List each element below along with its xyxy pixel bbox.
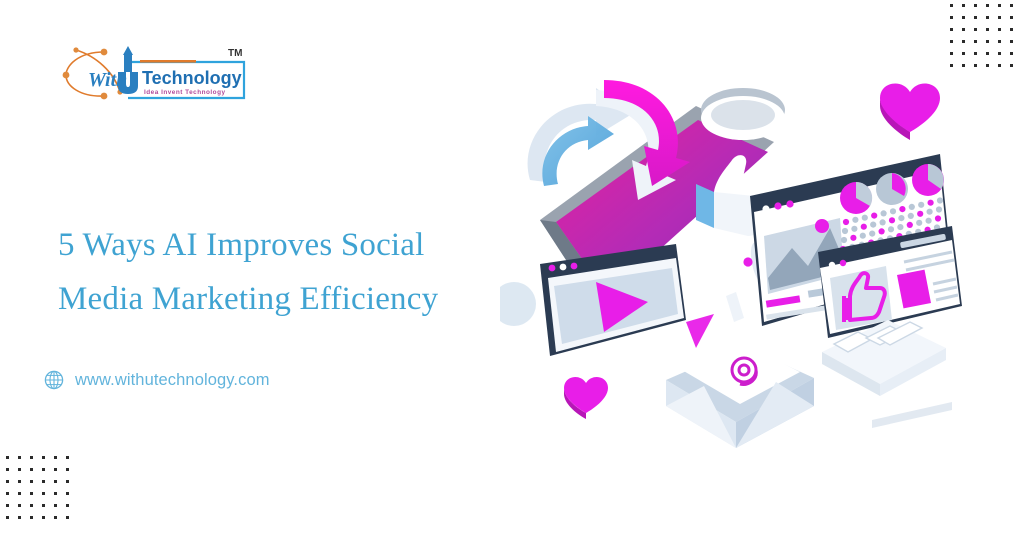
matrix-dot (860, 233, 866, 239)
magnifier-icon (701, 88, 785, 140)
logo-atom-dot (101, 93, 108, 100)
grid-dot (54, 504, 57, 507)
grid-dot (986, 40, 989, 43)
matrix-dot (918, 202, 924, 208)
grid-dot (66, 468, 69, 471)
grid-dot (54, 456, 57, 459)
headline-line-1: 5 Ways AI Improves Social (58, 218, 528, 272)
heart-icon-large (880, 83, 940, 140)
grid-dot (42, 504, 45, 507)
matrix-dot (926, 218, 932, 224)
grid-dot (974, 40, 977, 43)
grid-dot (962, 40, 965, 43)
grid-dot (18, 480, 21, 483)
grid-dot (986, 28, 989, 31)
grid-dot (30, 504, 33, 507)
grid-dot (6, 492, 9, 495)
grid-dot (30, 516, 33, 519)
matrix-dot (870, 222, 876, 228)
matrix-dot (879, 228, 885, 234)
grid-dot (950, 4, 953, 7)
decorative-circle (500, 282, 536, 326)
website-url-text: www.withutechnology.com (75, 371, 270, 390)
matrix-dot (851, 226, 857, 232)
matrix-dot (935, 215, 941, 221)
matrix-dot (890, 208, 896, 214)
grid-dot (54, 516, 57, 519)
matrix-dot (871, 213, 877, 219)
decorative-bar (872, 402, 952, 428)
grid-dot (54, 468, 57, 471)
dot-grid-bottom-left (6, 456, 80, 532)
logo-withu-technology[interactable]: With Technology Idea Invent Technology T… (62, 42, 248, 104)
grid-dot (998, 16, 1001, 19)
grid-dot (18, 456, 21, 459)
matrix-dot (936, 206, 942, 212)
grid-dot (18, 468, 21, 471)
grid-dot (30, 468, 33, 471)
matrix-dot (841, 237, 847, 243)
grid-dot (30, 456, 33, 459)
grid-dot (1010, 28, 1013, 31)
grid-dot (974, 28, 977, 31)
grid-dot (66, 492, 69, 495)
grid-dot (18, 492, 21, 495)
headline-line-2: Media Marketing Efficiency (58, 272, 528, 326)
grid-dot (962, 52, 965, 55)
logo-orange-rule (140, 60, 196, 63)
grid-dot (998, 28, 1001, 31)
grid-dot (66, 516, 69, 519)
grid-dot (1010, 64, 1013, 67)
grid-dot (950, 64, 953, 67)
envelope-icon (666, 344, 814, 448)
video-player-window[interactable] (540, 244, 686, 356)
logo-atom-dot (101, 49, 108, 56)
grid-dot (1010, 16, 1013, 19)
grid-dot (54, 492, 57, 495)
grid-dot (54, 480, 57, 483)
matrix-dot (899, 206, 905, 212)
grid-dot (42, 456, 45, 459)
grid-dot (6, 516, 9, 519)
grid-dot (42, 468, 45, 471)
grid-dot (18, 504, 21, 507)
matrix-dot (907, 222, 913, 228)
grid-dot (18, 516, 21, 519)
grid-dot (66, 480, 69, 483)
matrix-dot (897, 224, 903, 230)
grid-dot (986, 52, 989, 55)
grid-dot (974, 52, 977, 55)
matrix-dot (869, 231, 875, 237)
matrix-dot (843, 219, 849, 225)
grid-dot (42, 480, 45, 483)
logo-atom-dot (73, 47, 78, 52)
matrix-dot (937, 197, 943, 203)
grid-dot (30, 480, 33, 483)
grid-dot (974, 16, 977, 19)
logo-atom-dot (63, 72, 70, 79)
matrix-dot (880, 219, 886, 225)
matrix-dot (850, 235, 856, 241)
logo-word-technology: Technology (142, 68, 242, 88)
window-dot-max (571, 263, 578, 270)
heart-icon-small (564, 377, 608, 419)
website-url-row[interactable]: www.withutechnology.com (44, 370, 270, 390)
grid-dot (950, 40, 953, 43)
grid-dot (962, 28, 965, 31)
social-media-marketing-illustration (500, 70, 970, 460)
grid-dot (998, 4, 1001, 7)
grid-dot (6, 480, 9, 483)
grid-dot (1010, 4, 1013, 7)
grid-dot (950, 52, 953, 55)
matrix-dot (928, 200, 934, 206)
grid-dot (974, 64, 977, 67)
page-title: 5 Ways AI Improves Social Media Marketin… (58, 218, 528, 326)
matrix-dot (852, 217, 858, 223)
grid-dot (950, 28, 953, 31)
grid-dot (6, 504, 9, 507)
grid-dot (962, 16, 965, 19)
matrix-dot (881, 210, 887, 216)
grid-dot (42, 492, 45, 495)
grid-dot (974, 4, 977, 7)
grid-dot (998, 40, 1001, 43)
matrix-dot (842, 228, 848, 234)
window-dot-close (549, 265, 556, 272)
matrix-dot (908, 213, 914, 219)
grid-dot (1010, 52, 1013, 55)
grid-dot (6, 456, 9, 459)
play-accent-icon (686, 314, 714, 348)
grid-dot (1010, 40, 1013, 43)
window-dot-min (560, 264, 567, 271)
grid-dot (998, 52, 1001, 55)
grid-dot (962, 4, 965, 7)
matrix-dot (898, 215, 904, 221)
matrix-dot (888, 226, 894, 232)
matrix-dot (917, 211, 923, 217)
grid-dot (950, 16, 953, 19)
grid-dot (30, 492, 33, 495)
globe-icon (44, 370, 64, 390)
blog-banner: With Technology Idea Invent Technology T… (0, 0, 1024, 538)
grid-dot (986, 16, 989, 19)
grid-dot (6, 468, 9, 471)
grid-dot (998, 64, 1001, 67)
logo-tagline: Idea Invent Technology (144, 89, 226, 96)
grid-dot (986, 4, 989, 7)
grid-dot (986, 64, 989, 67)
matrix-dot (861, 224, 867, 230)
matrix-dot (916, 220, 922, 226)
grid-dot (66, 456, 69, 459)
matrix-dot (889, 217, 895, 223)
matrix-dot (909, 204, 915, 210)
matrix-dot (862, 215, 868, 221)
grid-dot (962, 64, 965, 67)
grid-dot (42, 516, 45, 519)
grid-dot (66, 504, 69, 507)
matrix-dot (927, 209, 933, 215)
logo-trademark: TM (228, 48, 242, 59)
